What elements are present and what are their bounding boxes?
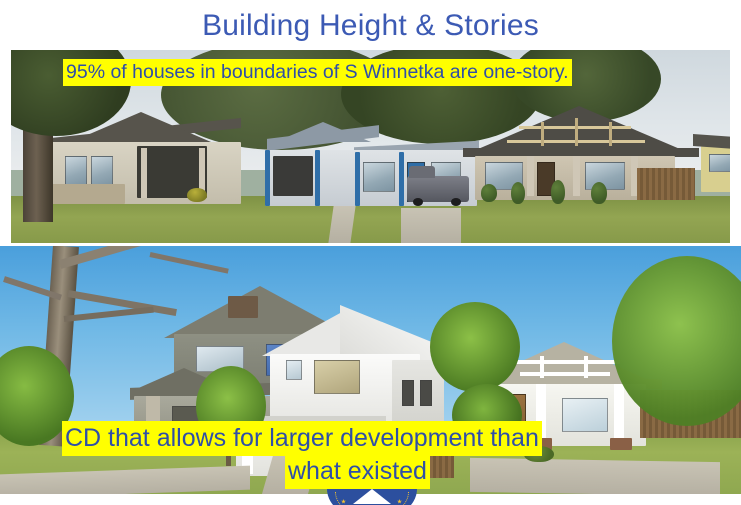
porch-post bbox=[141, 148, 147, 198]
bottom-caption-line1: CD that allows for larger development th… bbox=[62, 421, 542, 456]
truck-cab bbox=[409, 166, 435, 178]
window bbox=[91, 156, 113, 186]
window-upper bbox=[314, 360, 360, 394]
porch-post bbox=[614, 384, 624, 442]
gable-truss bbox=[584, 356, 588, 378]
blue-trim bbox=[315, 150, 320, 206]
gable-truss bbox=[609, 122, 612, 146]
house-right-one-story bbox=[463, 106, 713, 210]
gable-truss bbox=[541, 122, 544, 146]
porch-post bbox=[573, 156, 580, 196]
window bbox=[562, 398, 608, 432]
truck-wheel bbox=[451, 198, 461, 206]
flower-bed bbox=[187, 188, 207, 202]
shrub bbox=[591, 182, 607, 204]
garage-door bbox=[637, 168, 695, 200]
window bbox=[709, 154, 730, 172]
porch-recess bbox=[273, 156, 313, 196]
city-seal bbox=[327, 489, 417, 505]
gable-truss bbox=[540, 356, 544, 378]
window bbox=[420, 380, 432, 406]
sidewalk bbox=[470, 458, 720, 494]
blue-trim bbox=[399, 152, 404, 206]
brick-base bbox=[610, 438, 632, 450]
truck-wheel bbox=[413, 198, 423, 206]
top-caption: 95% of houses in boundaries of S Winnetk… bbox=[63, 59, 572, 86]
shrub bbox=[551, 180, 565, 204]
window bbox=[65, 156, 87, 186]
blue-trim bbox=[355, 152, 360, 206]
roof-gable bbox=[471, 106, 687, 152]
porch-post bbox=[527, 156, 534, 196]
blue-trim bbox=[265, 150, 270, 206]
driveway bbox=[401, 208, 461, 243]
slide: Building Height & Stories bbox=[0, 0, 741, 505]
shrub bbox=[481, 184, 497, 202]
gable-truss bbox=[575, 118, 578, 146]
page-title: Building Height & Stories bbox=[0, 8, 741, 44]
bottom-caption-line2: what existed bbox=[285, 454, 430, 489]
window-upper bbox=[286, 360, 302, 380]
window bbox=[402, 380, 414, 406]
gable-truss bbox=[510, 360, 620, 364]
tree-canopy bbox=[430, 302, 520, 392]
shrub bbox=[511, 182, 525, 204]
stone-skirt bbox=[47, 184, 125, 204]
window bbox=[363, 162, 395, 192]
gable-truss bbox=[520, 372, 610, 376]
roof-gable bbox=[275, 122, 371, 142]
seal-chevron-icon bbox=[353, 489, 391, 504]
